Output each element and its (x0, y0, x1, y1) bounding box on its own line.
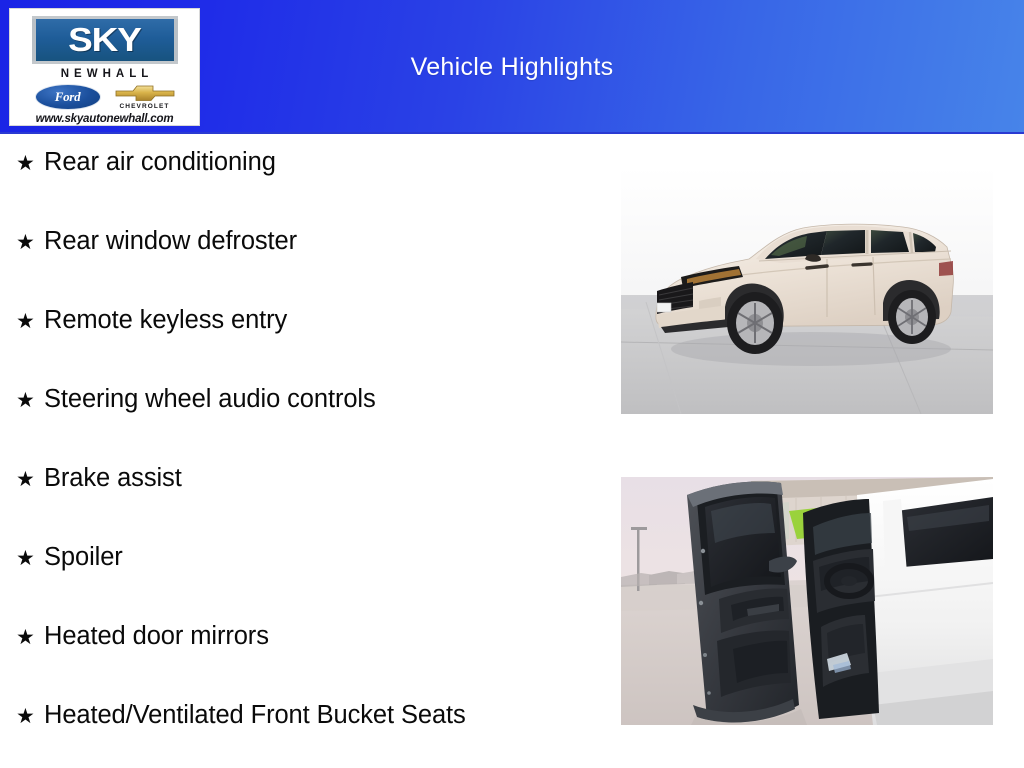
feature-label: Spoiler (44, 543, 123, 571)
list-item[interactable]: ★ Brake assist (10, 464, 610, 543)
ford-logo-icon: Ford (35, 84, 101, 110)
list-item[interactable]: ★ Rear window defroster (10, 227, 610, 306)
chevrolet-bowtie-icon (115, 84, 175, 102)
feature-label: Heated/Ventilated Front Bucket Seats (44, 701, 466, 729)
exterior-photo-graphic (621, 167, 993, 414)
list-item[interactable]: ★ Remote keyless entry (10, 306, 610, 385)
star-icon: ★ (10, 627, 44, 648)
interior-photo-graphic: Jeep DODGE RAM (621, 477, 993, 725)
dealer-website-text: www.skyautonewhall.com (36, 113, 174, 125)
vehicle-photo-interior[interactable]: Jeep DODGE RAM (621, 477, 993, 725)
vehicle-features-list: ★ Rear air conditioning ★ Rear window de… (10, 148, 610, 768)
feature-label: Rear air conditioning (44, 148, 276, 176)
feature-label: Remote keyless entry (44, 306, 287, 334)
dealer-logo[interactable]: SKY NEWHALL Ford CHEVROLET (9, 8, 200, 126)
slide-vehicle-highlights: Vehicle Highlights SKY NEWHALL Ford (0, 0, 1024, 768)
feature-label: Brake assist (44, 464, 182, 492)
chevrolet-logo-text: CHEVROLET (120, 103, 170, 110)
star-icon: ★ (10, 153, 44, 174)
star-icon: ★ (10, 311, 44, 332)
dealer-location-text: NEWHALL (56, 68, 154, 80)
list-item[interactable]: ★ Heated/Ventilated Front Bucket Seats (10, 701, 610, 768)
list-item[interactable]: ★ Spoiler (10, 543, 610, 622)
ford-logo-text: Ford (55, 89, 81, 105)
star-icon: ★ (10, 469, 44, 490)
sky-brand-text: SKY (68, 21, 141, 59)
star-icon: ★ (10, 706, 44, 727)
chevrolet-logo-icon: CHEVROLET (115, 84, 175, 110)
franchise-logos: Ford CHEVROLET (35, 84, 175, 110)
vehicle-photo-exterior[interactable] (621, 167, 993, 414)
list-item[interactable]: ★ Steering wheel audio controls (10, 385, 610, 464)
feature-label: Rear window defroster (44, 227, 297, 255)
feature-label: Heated door mirrors (44, 622, 269, 650)
star-icon: ★ (10, 548, 44, 569)
list-item[interactable]: ★ Rear air conditioning (10, 148, 610, 227)
sky-brand-plate: SKY (32, 16, 178, 64)
star-icon: ★ (10, 390, 44, 411)
star-icon: ★ (10, 232, 44, 253)
list-item[interactable]: ★ Heated door mirrors (10, 622, 610, 701)
feature-label: Steering wheel audio controls (44, 385, 376, 413)
